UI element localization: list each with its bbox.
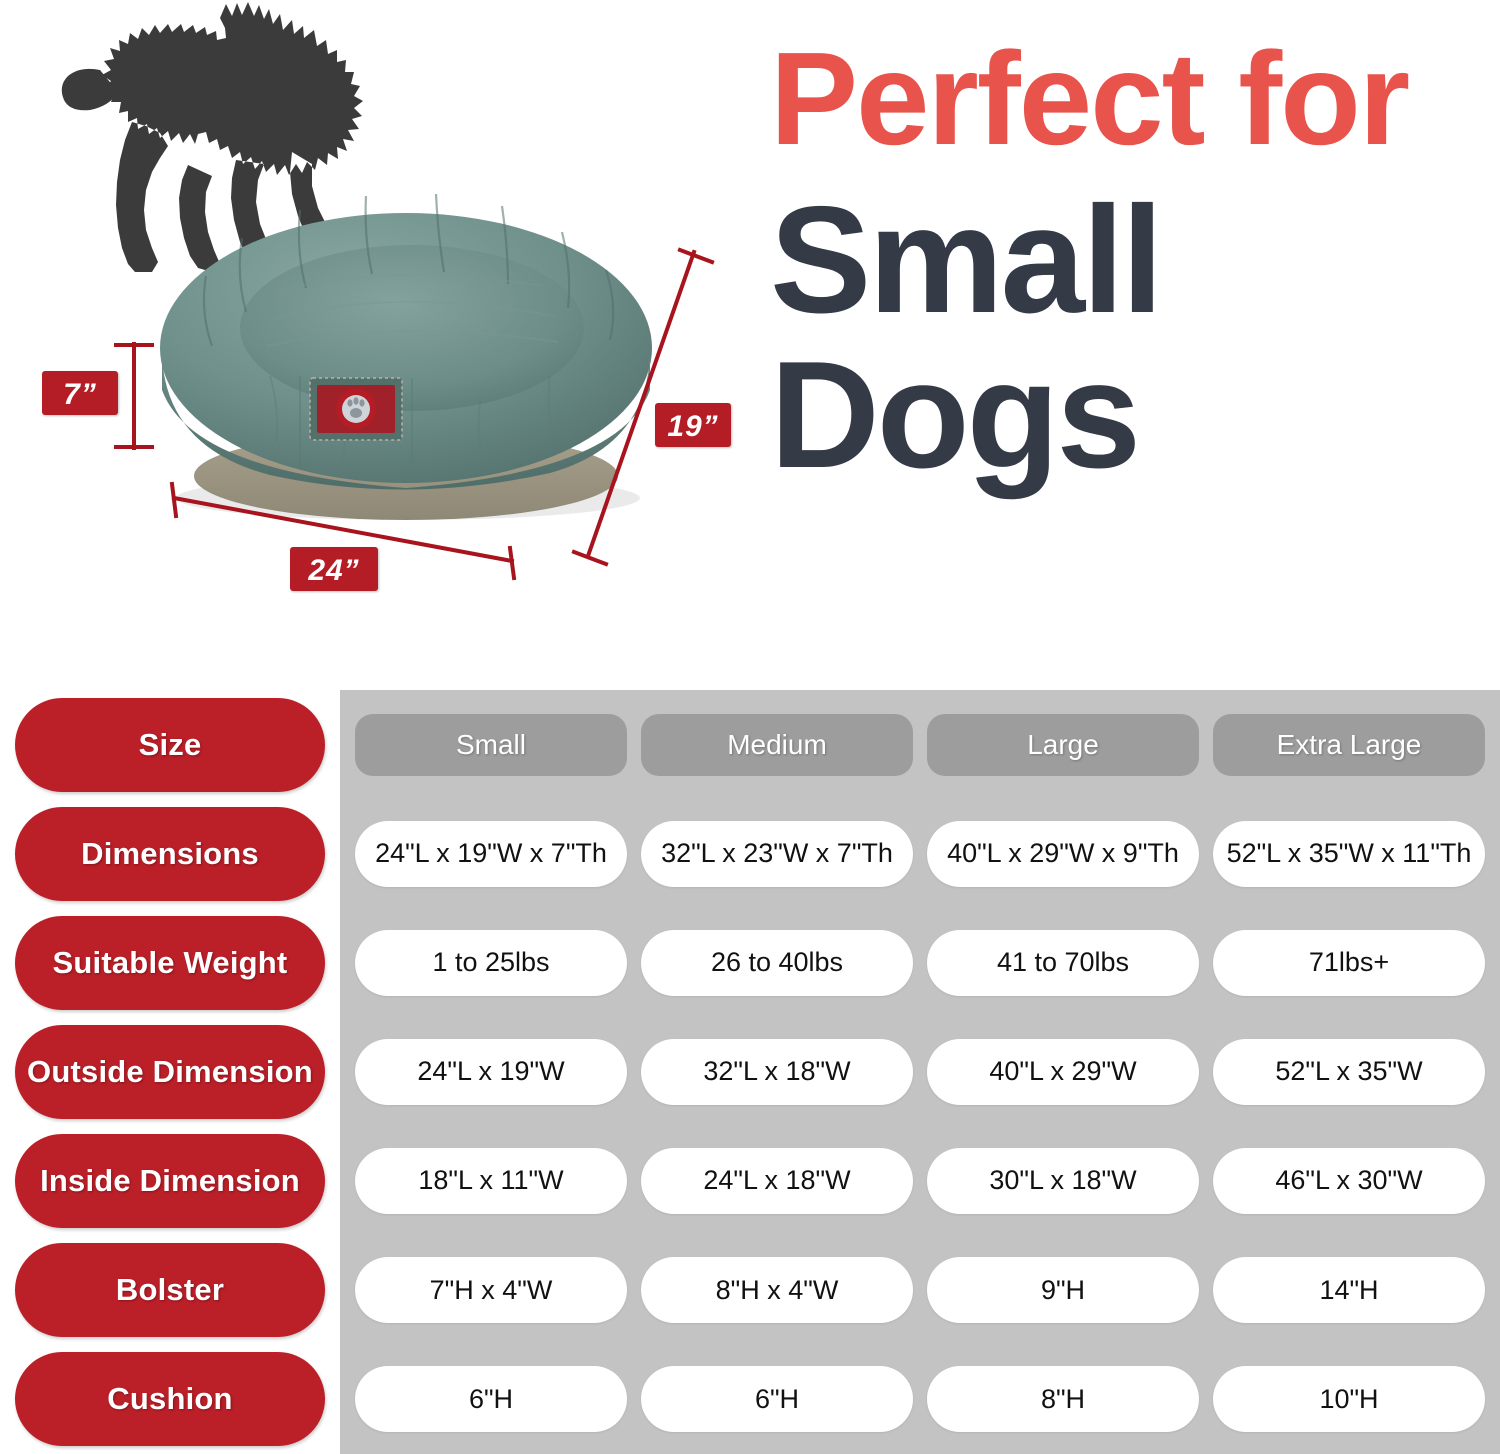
- spec-row-label-dimensions: Dimensions: [0, 799, 340, 908]
- spec-cell: 40"L x 29"W x 9"Th: [927, 821, 1199, 887]
- column-header-small: Small: [355, 714, 627, 776]
- headline-line-3: Dogs: [770, 338, 1490, 493]
- spec-cell: 40"L x 29"W: [927, 1039, 1199, 1105]
- spec-cell: 71lbs+: [1213, 930, 1485, 996]
- spec-cell: 24"L x 19"W: [355, 1039, 627, 1105]
- spec-grid: Size Small Medium Large Extra Large Dime…: [0, 690, 1500, 1454]
- dimension-lines: [0, 0, 760, 620]
- headline-line-1: Perfect for: [770, 38, 1490, 161]
- spec-row-values-outside-dimension: 24"L x 19"W 32"L x 18"W 40"L x 29"W 52"L…: [340, 1017, 1500, 1126]
- spec-cell: 32"L x 18"W: [641, 1039, 913, 1105]
- spec-row-label-cushion: Cushion: [0, 1345, 340, 1454]
- spec-cell: 24"L x 18"W: [641, 1148, 913, 1214]
- spec-cell: 1 to 25lbs: [355, 930, 627, 996]
- spec-cell: 10"H: [1213, 1366, 1485, 1432]
- row-label-pill: Outside Dimension: [15, 1025, 325, 1119]
- spec-cell: 14"H: [1213, 1257, 1485, 1323]
- spec-cell: 52"L x 35"W x 11"Th: [1213, 821, 1485, 887]
- row-label-pill: Dimensions: [15, 807, 325, 901]
- headline-line-2: Small: [770, 183, 1490, 338]
- row-label-pill: Size: [15, 698, 325, 792]
- row-label-pill: Inside Dimension: [15, 1134, 325, 1228]
- spec-row-label-outside-dimension: Outside Dimension: [0, 1017, 340, 1126]
- spec-cell: 24"L x 19"W x 7"Th: [355, 821, 627, 887]
- length-callout-badge: 24”: [290, 547, 378, 591]
- spec-cell: 8"H x 4"W: [641, 1257, 913, 1323]
- column-header-extra-large: Extra Large: [1213, 714, 1485, 776]
- row-label-pill: Bolster: [15, 1243, 325, 1337]
- spec-cell: 41 to 70lbs: [927, 930, 1199, 996]
- spec-row-label-inside-dimension: Inside Dimension: [0, 1126, 340, 1235]
- spec-cell: 26 to 40lbs: [641, 930, 913, 996]
- infographic-page: 7” 19” 24” Perfect for Small Dogs Size S…: [0, 0, 1500, 1454]
- spec-cell: 32"L x 23"W x 7"Th: [641, 821, 913, 887]
- spec-cell: 46"L x 30"W: [1213, 1148, 1485, 1214]
- spec-cell: 52"L x 35"W: [1213, 1039, 1485, 1105]
- spec-cell: 7"H x 4"W: [355, 1257, 627, 1323]
- column-header-medium: Medium: [641, 714, 913, 776]
- spec-cell: 30"L x 18"W: [927, 1148, 1199, 1214]
- spec-row-values-suitable-weight: 1 to 25lbs 26 to 40lbs 41 to 70lbs 71lbs…: [340, 908, 1500, 1017]
- spec-row-label-size: Size: [0, 690, 340, 799]
- hero-section: 7” 19” 24” Perfect for Small Dogs: [0, 0, 1500, 690]
- height-callout-badge: 7”: [42, 371, 118, 415]
- spec-cell: 8"H: [927, 1366, 1199, 1432]
- spec-cell: 6"H: [641, 1366, 913, 1432]
- spec-row-values-dimensions: 24"L x 19"W x 7"Th 32"L x 23"W x 7"Th 40…: [340, 799, 1500, 908]
- spec-cell: 9"H: [927, 1257, 1199, 1323]
- spec-row-values-size: Small Medium Large Extra Large: [340, 690, 1500, 799]
- column-header-large: Large: [927, 714, 1199, 776]
- spec-cell: 6"H: [355, 1366, 627, 1432]
- width-callout-badge: 19”: [655, 403, 731, 447]
- spec-row-values-inside-dimension: 18"L x 11"W 24"L x 18"W 30"L x 18"W 46"L…: [340, 1126, 1500, 1235]
- spec-row-label-suitable-weight: Suitable Weight: [0, 908, 340, 1017]
- row-label-pill: Suitable Weight: [15, 916, 325, 1010]
- specifications-table: Size Small Medium Large Extra Large Dime…: [0, 690, 1500, 1454]
- row-label-pill: Cushion: [15, 1352, 325, 1446]
- spec-row-values-cushion: 6"H 6"H 8"H 10"H: [340, 1345, 1500, 1454]
- spec-cell: 18"L x 11"W: [355, 1148, 627, 1214]
- page-title: Perfect for Small Dogs: [770, 38, 1490, 493]
- spec-row-values-bolster: 7"H x 4"W 8"H x 4"W 9"H 14"H: [340, 1235, 1500, 1344]
- spec-row-label-bolster: Bolster: [0, 1235, 340, 1344]
